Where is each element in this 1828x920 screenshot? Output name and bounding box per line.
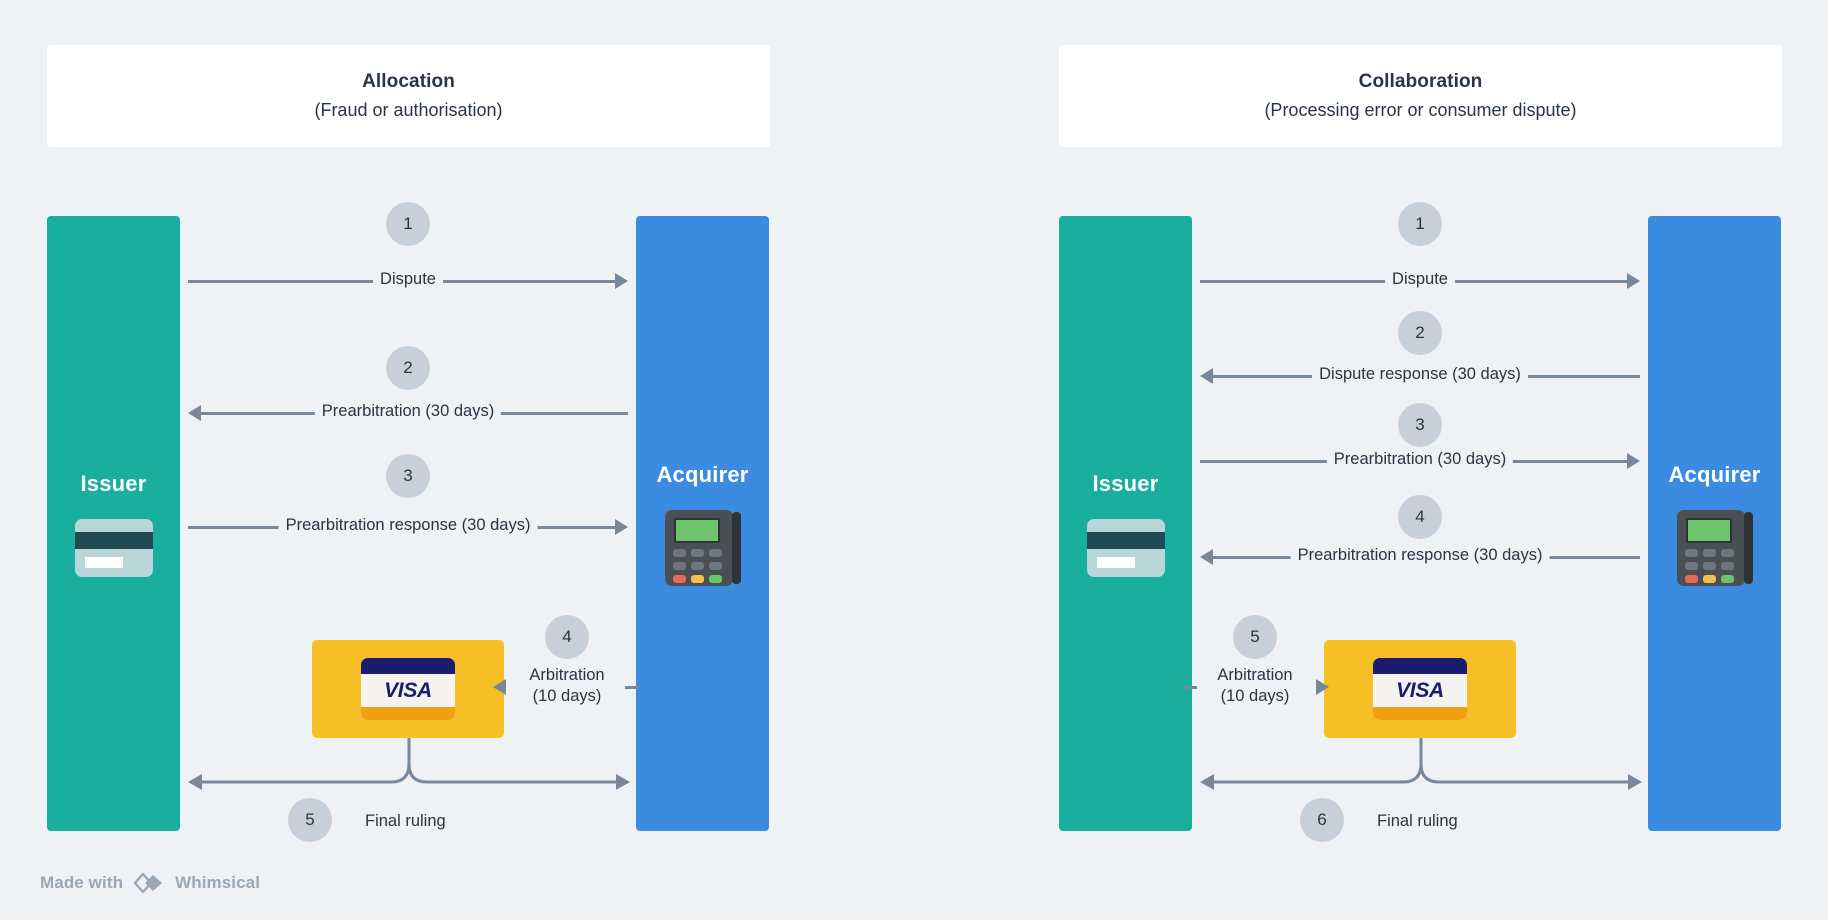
flow-label: Dispute: [373, 268, 443, 290]
actor-label: Acquirer: [1668, 462, 1760, 488]
step-badge: 3: [1398, 403, 1442, 447]
flow-label: Dispute response (30 days): [1312, 363, 1528, 385]
panel-header-allocation: Allocation (Fraud or authorisation): [47, 45, 770, 147]
panel-header-collaboration: Collaboration (Processing error or consu…: [1059, 45, 1782, 147]
actor-acquirer-collaboration[interactable]: Acquirer: [1648, 216, 1781, 831]
panel-title: Collaboration: [1359, 69, 1483, 95]
flow-arrow-arbitration-collaboration: Arbitration (10 days): [1209, 665, 1301, 707]
flow-label-line2: (10 days): [1209, 686, 1301, 707]
step-badge: 2: [386, 346, 430, 390]
step-badge: 1: [386, 202, 430, 246]
flow-label: Prearbitration response (30 days): [279, 514, 538, 536]
actor-issuer-allocation[interactable]: Issuer: [47, 216, 180, 831]
step-badge: 5: [288, 798, 332, 842]
whimsical-logo-icon: [132, 872, 166, 894]
visa-wordmark: VISA: [384, 679, 432, 703]
flow-label: Dispute: [1385, 268, 1455, 290]
actor-label: Acquirer: [656, 462, 748, 488]
flow-label: Final ruling: [365, 812, 446, 831]
panel-title: Allocation: [362, 69, 455, 95]
step-badge: 1: [1398, 202, 1442, 246]
flow-label: Final ruling: [1377, 812, 1458, 831]
flow-arrow-dispute-collaboration: Dispute: [1200, 280, 1640, 282]
network-node-visa-allocation[interactable]: VISA: [312, 640, 504, 738]
visa-wordmark: VISA: [1396, 679, 1444, 703]
brand-label: Whimsical: [175, 873, 260, 893]
made-with-label: Made with: [40, 873, 123, 893]
flow-arrow-arbitration-allocation: Arbitration (10 days): [521, 665, 613, 707]
step-badge: 2: [1398, 311, 1442, 355]
flow-arrow-final-ruling-allocation: [188, 738, 630, 788]
actor-label: Issuer: [1092, 471, 1158, 497]
flow-label: Prearbitration (30 days): [315, 400, 501, 422]
pos-terminal-icon: [1677, 510, 1753, 586]
flow-arrow-dispute-allocation: Dispute: [188, 280, 628, 282]
flow-label-line1: Arbitration: [1209, 665, 1301, 686]
step-badge: 5: [1233, 615, 1277, 659]
actor-issuer-collaboration[interactable]: Issuer: [1059, 216, 1192, 831]
bank-card-icon: [75, 519, 153, 577]
flow-label: Prearbitration response (30 days): [1291, 544, 1550, 566]
flow-arrow-dispute-response-collaboration: Dispute response (30 days): [1200, 375, 1640, 377]
footer-watermark[interactable]: Made with Whimsical: [40, 872, 260, 894]
network-node-visa-collaboration[interactable]: VISA: [1324, 640, 1516, 738]
visa-card-icon: VISA: [1373, 658, 1467, 720]
diagram-canvas: Allocation (Fraud or authorisation) Issu…: [0, 0, 1828, 920]
step-badge: 6: [1300, 798, 1344, 842]
flow-arrow-prearbitration-collaboration: Prearbitration (30 days): [1200, 460, 1640, 462]
actor-acquirer-allocation[interactable]: Acquirer: [636, 216, 769, 831]
visa-card-icon: VISA: [361, 658, 455, 720]
actor-label: Issuer: [80, 471, 146, 497]
bank-card-icon: [1087, 519, 1165, 577]
flow-arrow-final-ruling-collaboration: [1200, 738, 1642, 788]
flow-arrow-prearbitration-allocation: Prearbitration (30 days): [188, 412, 628, 414]
step-badge: 4: [545, 615, 589, 659]
panel-subtitle: (Processing error or consumer dispute): [1264, 98, 1576, 123]
flow-label-line2: (10 days): [521, 686, 613, 707]
pos-terminal-icon: [665, 510, 741, 586]
flow-label-line1: Arbitration: [521, 665, 613, 686]
flow-arrow-prearbitration-response-allocation: Prearbitration response (30 days): [188, 526, 628, 528]
panel-subtitle: (Fraud or authorisation): [314, 98, 502, 123]
flow-label: Prearbitration (30 days): [1327, 448, 1513, 470]
step-badge: 3: [386, 454, 430, 498]
step-badge: 4: [1398, 495, 1442, 539]
flow-arrow-prearbitration-response-collaboration: Prearbitration response (30 days): [1200, 556, 1640, 558]
